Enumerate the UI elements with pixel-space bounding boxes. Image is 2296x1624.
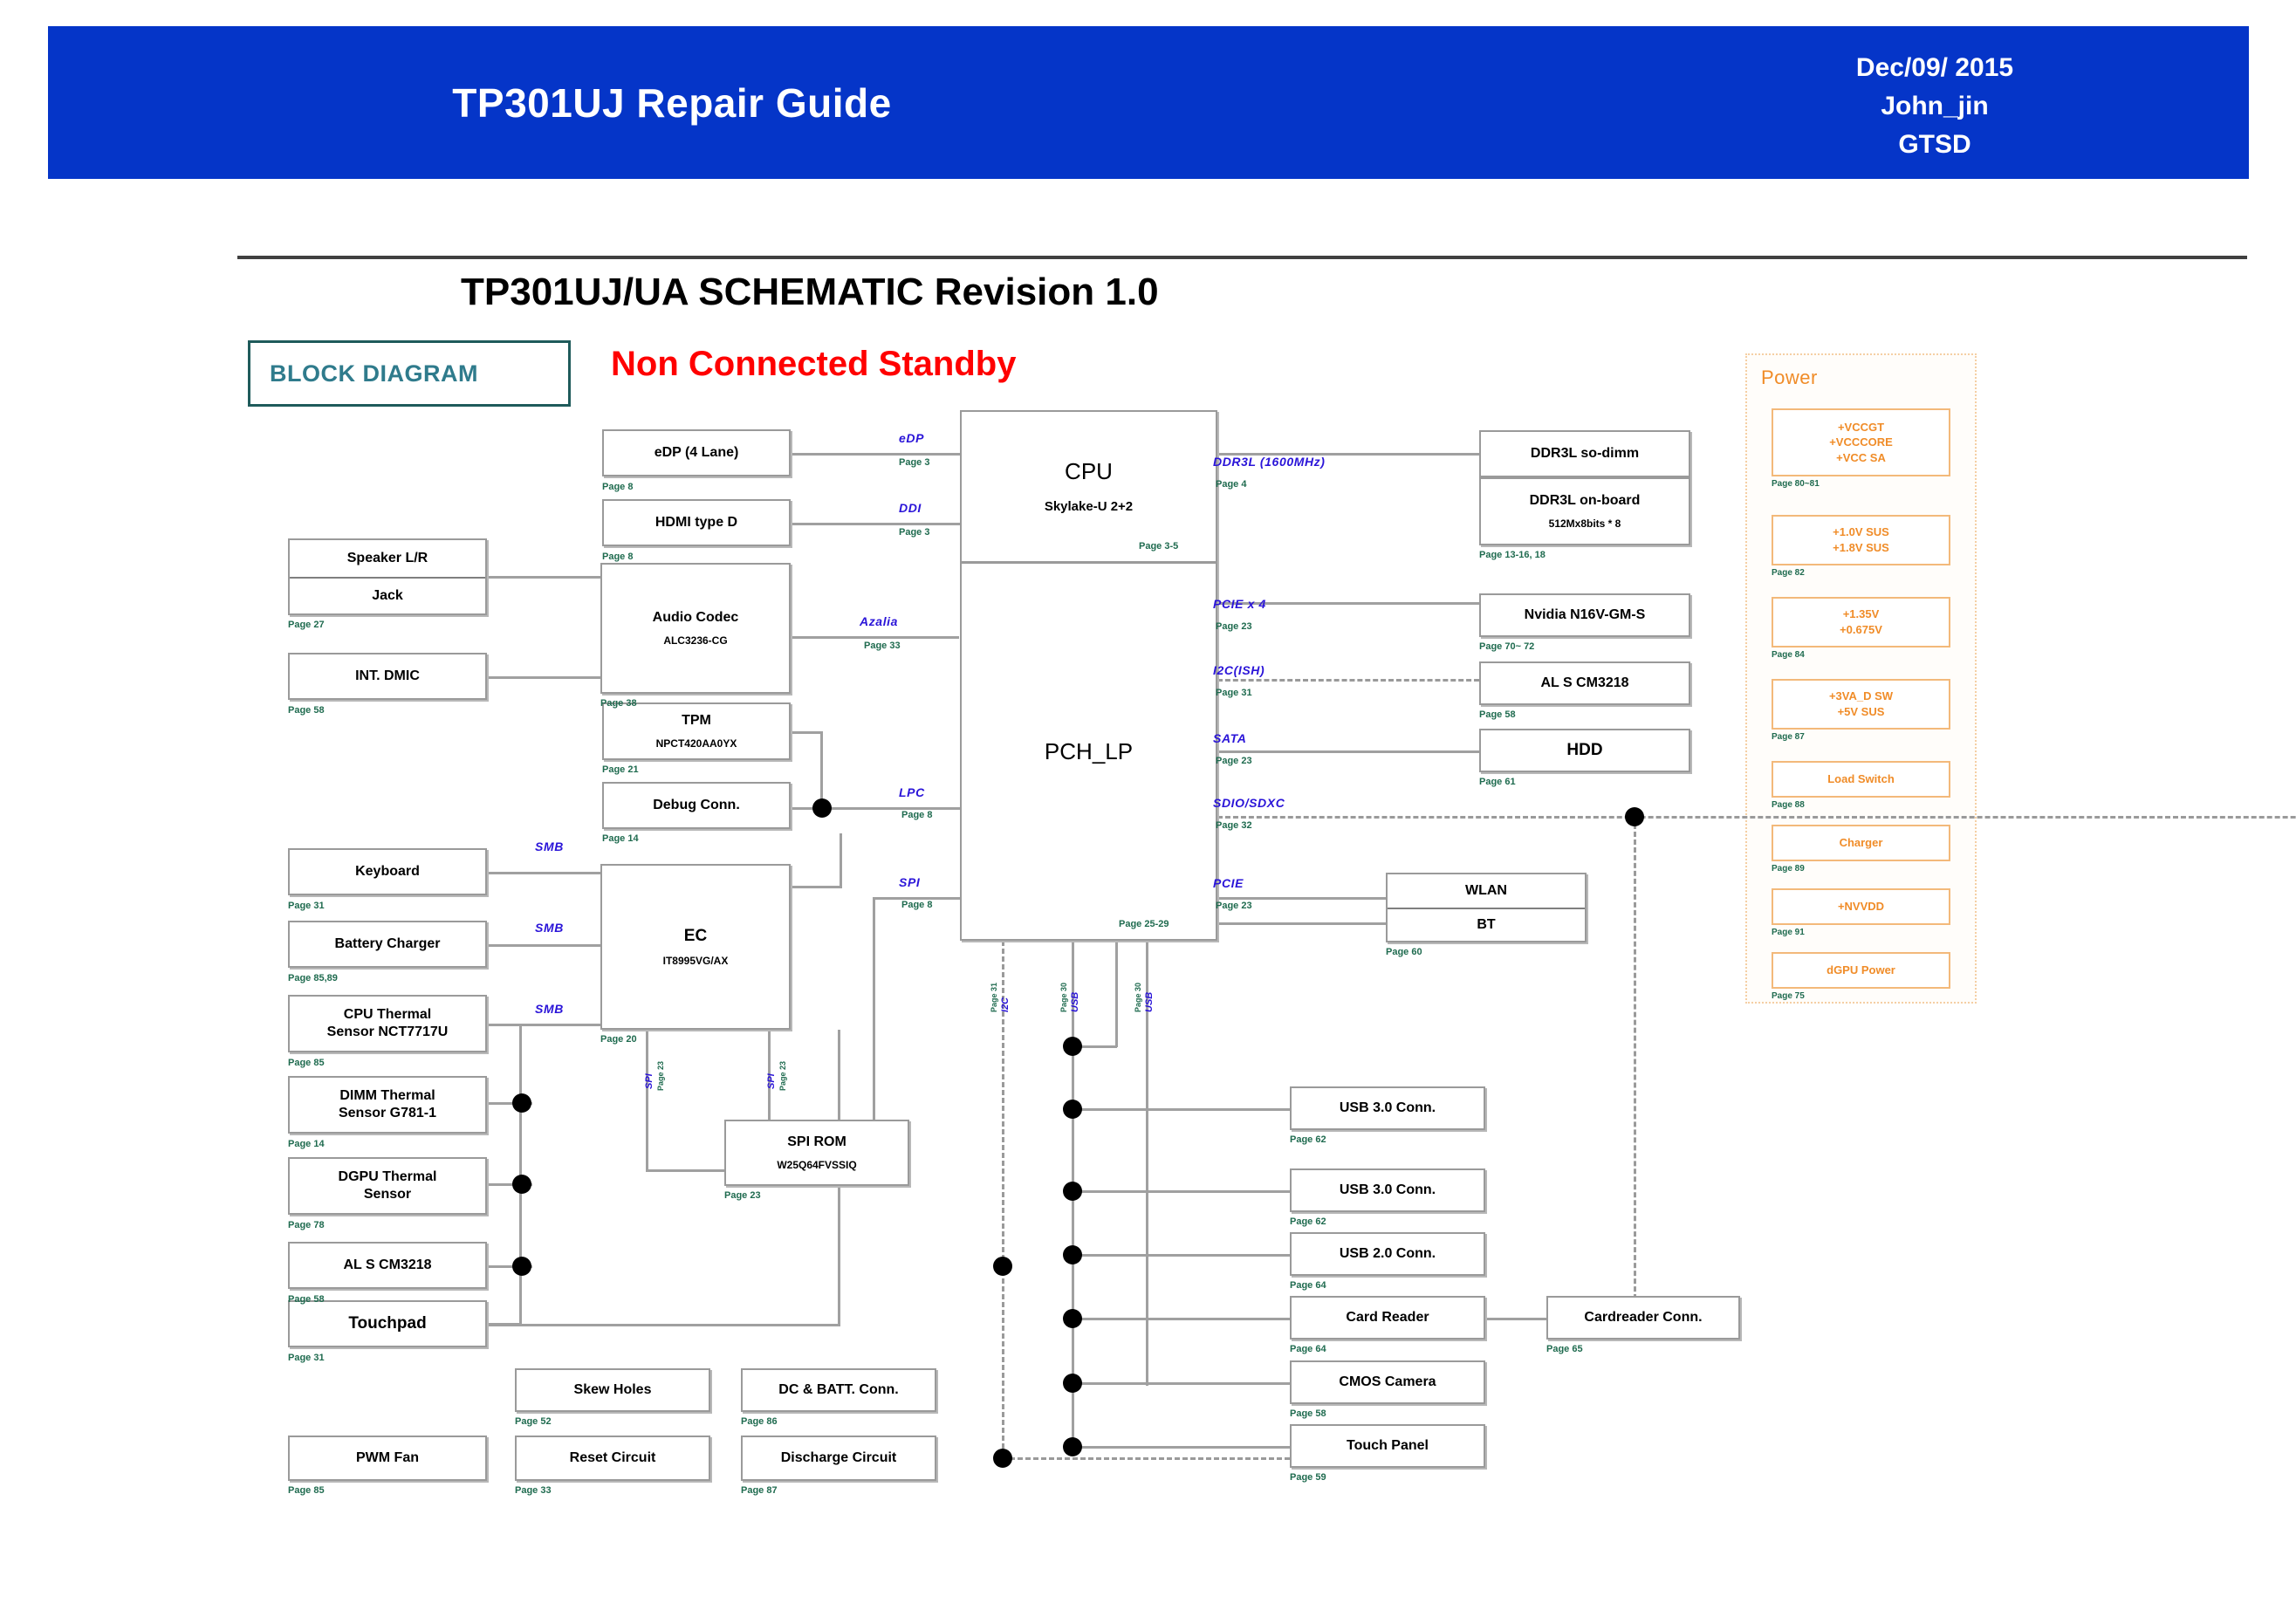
junction-dot-dgpu — [512, 1175, 531, 1194]
block-card-reader-label: Card Reader — [1346, 1309, 1429, 1326]
block-speaker-page: Page 27 — [288, 620, 325, 630]
wire-ec-spi1-h — [646, 1169, 724, 1172]
block-spi-rom[interactable]: SPI ROM W25Q64FVSSIQ — [724, 1120, 909, 1186]
block-ddr3l-sodimm-label: DDR3L so-dimm — [1531, 445, 1639, 463]
wire-sata — [1217, 750, 1479, 753]
block-dc-batt-conn-page: Page 86 — [741, 1416, 778, 1427]
block-ddr3l-onboard-part: 512Mx8bits * 8 — [1549, 517, 1621, 531]
power-item-dgpu-line1: dGPU Power — [1827, 963, 1895, 978]
power-item-3va-line1: +3VA_D SW — [1829, 689, 1893, 704]
header-date: Dec/09/ 2015 — [1791, 49, 2079, 87]
power-item-nvvdd[interactable]: +NVVDD — [1772, 888, 1950, 925]
block-diagram-tag: BLOCK DIAGRAM — [248, 340, 571, 407]
block-ddr3l-onboard[interactable]: DDR3L on-board 512Mx8bits * 8 — [1479, 477, 1690, 545]
power-item-nvvdd-line1: +NVVDD — [1838, 899, 1884, 915]
block-card-reader-page: Page 64 — [1290, 1344, 1326, 1354]
block-touchpad-page: Page 31 — [288, 1353, 325, 1363]
block-usb30-a[interactable]: USB 3.0 Conn. — [1290, 1086, 1485, 1130]
wire-cardreader — [1072, 1318, 1290, 1320]
wire-usb30a-v — [1146, 1084, 1148, 1110]
power-item-load-switch[interactable]: Load Switch — [1772, 761, 1950, 798]
signal-sata-page: Page 23 — [1216, 756, 1252, 766]
signal-sdio: SDIO/SDXC — [1213, 796, 1285, 810]
block-als-right-label: AL S CM3218 — [1540, 675, 1628, 692]
wire-cputherm-ec — [487, 1024, 600, 1026]
power-item-vcc-line2: +VCCCORE — [1829, 435, 1893, 450]
block-touchpad[interactable]: Touchpad — [288, 1300, 487, 1347]
signal-lpc-page: Page 8 — [901, 810, 932, 820]
block-discharge-circuit-label: Discharge Circuit — [781, 1449, 896, 1467]
wire-ec-up — [792, 886, 842, 888]
signal-ddr3l: DDR3L (1600MHz) — [1213, 455, 1326, 469]
power-item-sus1[interactable]: +1.0V SUS +1.8V SUS — [1772, 515, 1950, 565]
junction-dot-usb30b — [1063, 1182, 1082, 1201]
block-tpm-page: Page 21 — [602, 764, 639, 775]
slide-title: TP301UJ/UA SCHEMATIC Revision 1.0 — [461, 271, 1159, 314]
signal-i2c-ish: I2C(ISH) — [1213, 663, 1265, 677]
signal-bottom-usb2: USB — [1144, 992, 1155, 1012]
block-ec[interactable]: EC IT8995VG/AX — [600, 864, 791, 1030]
block-dc-batt-conn-label: DC & BATT. Conn. — [778, 1381, 898, 1399]
block-dimm-thermal-label2: Sensor G781-1 — [339, 1105, 436, 1122]
wire-touchpad-to-ec — [487, 1324, 840, 1326]
signal-azalia: Azalia — [860, 614, 898, 628]
block-touch-panel-label: Touch Panel — [1347, 1437, 1429, 1455]
junction-dot-touchpanel — [1063, 1437, 1082, 1456]
block-speaker-label: Speaker L/R — [290, 540, 485, 577]
power-item-135v-page: Page 84 — [1772, 650, 1805, 660]
wire-dmic-audio — [487, 676, 600, 679]
block-usb30-b[interactable]: USB 3.0 Conn. — [1290, 1168, 1485, 1212]
block-usb20-label: USB 2.0 Conn. — [1340, 1245, 1436, 1263]
header-author: John_jin — [1791, 87, 2079, 126]
junction-dot-dimm — [512, 1093, 531, 1113]
block-audio-codec[interactable]: Audio Codec ALC3236-CG — [600, 563, 791, 694]
block-cpu-thermal-page: Page 85 — [288, 1058, 325, 1068]
junction-dot-i2c-bottom — [993, 1449, 1012, 1468]
signal-ec-spi2: SPI — [766, 1073, 777, 1089]
block-pch[interactable]: PCH_LP — [960, 562, 1217, 941]
junction-dot-lpc — [812, 798, 832, 818]
block-edp[interactable]: eDP (4 Lane) — [602, 429, 791, 476]
block-ddr3l-onboard-page: Page 13-16, 18 — [1479, 550, 1546, 560]
power-item-3va-line2: +5V SUS — [1838, 704, 1885, 720]
power-panel-title: Power — [1761, 367, 1818, 389]
block-battery-charger-page: Page 85,89 — [288, 973, 338, 983]
power-item-3va[interactable]: +3VA_D SW +5V SUS — [1772, 679, 1950, 730]
block-discharge-circuit-page: Page 87 — [741, 1485, 778, 1496]
signal-bottom-usb1: USB — [1070, 992, 1080, 1012]
block-skew-holes[interactable]: Skew Holes — [515, 1368, 710, 1412]
block-cmos-camera-label: CMOS Camera — [1339, 1374, 1436, 1391]
block-hdmi[interactable]: HDMI type D — [602, 499, 791, 546]
block-edp-page: Page 8 — [602, 482, 633, 492]
block-audio-codec-label: Audio Codec — [653, 609, 739, 627]
block-nvidia[interactable]: Nvidia N16V-GM-S — [1479, 593, 1690, 637]
header-dept: GTSD — [1791, 126, 2079, 164]
wire-cmos — [1072, 1382, 1290, 1385]
block-hdd-page: Page 61 — [1479, 777, 1516, 787]
power-item-vcc-line3: +VCC SA — [1836, 450, 1886, 466]
wire-usb20 — [1072, 1254, 1290, 1257]
signal-bottom-usb1-page: Page 30 — [1059, 983, 1068, 1012]
block-edp-label: eDP (4 Lane) — [655, 444, 739, 462]
block-dimm-thermal-page: Page 14 — [288, 1139, 325, 1149]
block-battery-charger[interactable]: Battery Charger — [288, 921, 487, 968]
signal-spi: SPI — [899, 875, 920, 889]
block-discharge-circuit[interactable]: Discharge Circuit — [741, 1436, 936, 1481]
junction-dot-als — [512, 1257, 531, 1276]
block-tpm-label: TPM — [682, 712, 711, 730]
block-jack-label: Jack — [290, 577, 485, 613]
signal-edp: eDP — [899, 431, 924, 445]
block-speaker-jack[interactable]: Speaker L/R Jack — [288, 538, 487, 615]
signal-edp-page: Page 3 — [899, 457, 929, 468]
block-skew-holes-label: Skew Holes — [574, 1381, 652, 1399]
signal-smb1: SMB — [535, 921, 564, 935]
block-hdd[interactable]: HDD — [1479, 729, 1690, 772]
junction-dot-usb20 — [1063, 1245, 1082, 1264]
block-pch-label: PCH_LP — [1045, 737, 1133, 766]
block-cmos-camera[interactable]: CMOS Camera — [1290, 1360, 1485, 1404]
block-dmic-page: Page 58 — [288, 705, 325, 716]
block-ec-page: Page 20 — [600, 1034, 637, 1045]
block-reset-circuit[interactable]: Reset Circuit — [515, 1436, 710, 1481]
signal-ec-spi1: SPI — [644, 1073, 655, 1089]
block-als-left-page: Page 58 — [288, 1294, 325, 1305]
block-card-reader[interactable]: Card Reader — [1290, 1296, 1485, 1340]
block-wlan-bt[interactable]: WLAN BT — [1386, 873, 1587, 942]
block-als-left-label: AL S CM3218 — [343, 1257, 431, 1274]
signal-azalia-page: Page 33 — [864, 641, 901, 651]
power-item-charger-page: Page 89 — [1772, 864, 1805, 874]
block-dmic-label: INT. DMIC — [355, 668, 420, 685]
block-dgpu-thermal-label: DGPU Thermal — [339, 1168, 437, 1186]
block-reset-circuit-page: Page 33 — [515, 1485, 552, 1496]
signal-pcie4-page: Page 23 — [1216, 621, 1252, 632]
block-usb30-a-page: Page 62 — [1290, 1134, 1326, 1145]
block-hdmi-label: HDMI type D — [655, 514, 737, 531]
block-ddr3l-onboard-label: DDR3L on-board — [1530, 492, 1641, 510]
block-touch-panel-page: Page 59 — [1290, 1472, 1326, 1483]
junction-dot-cardreader — [1063, 1309, 1082, 1328]
signal-lpc: LPC — [899, 785, 925, 799]
power-item-135v-line1: +1.35V — [1843, 606, 1880, 622]
signal-ec-spi2-page: Page 23 — [778, 1061, 787, 1091]
block-hdd-label: HDD — [1566, 740, 1602, 761]
block-reset-circuit-label: Reset Circuit — [570, 1449, 656, 1467]
signal-spi-page: Page 8 — [901, 900, 932, 910]
block-cpu[interactable]: CPU Skylake-U 2+2 — [960, 410, 1217, 563]
block-ddr3l-sodimm[interactable]: DDR3L so-dimm — [1479, 430, 1690, 477]
signal-ddi: DDI — [899, 501, 922, 515]
wire-keyboard-ec — [487, 872, 600, 874]
block-dgpu-thermal[interactable]: DGPU Thermal Sensor — [288, 1157, 487, 1215]
signal-sata: SATA — [1213, 731, 1246, 745]
block-debug-conn-label: Debug Conn. — [653, 797, 740, 814]
block-nvidia-page: Page 70~ 72 — [1479, 641, 1534, 652]
signal-ddr3l-page: Page 4 — [1216, 479, 1246, 490]
block-cardreader-conn-page: Page 65 — [1546, 1344, 1583, 1354]
block-audio-codec-page: Page 38 — [600, 698, 637, 709]
header-title: TP301UJ Repair Guide — [48, 26, 1296, 179]
signal-smb2: SMB — [535, 1002, 564, 1016]
signal-ec-spi1-page: Page 23 — [656, 1061, 665, 1091]
wire-touchpanel — [1072, 1446, 1290, 1449]
junction-dot-i2c-mid — [993, 1257, 1012, 1276]
block-dimm-thermal-label: DIMM Thermal — [339, 1087, 435, 1105]
block-audio-codec-part: ALC3236-CG — [663, 634, 727, 648]
power-item-load-switch-line1: Load Switch — [1827, 771, 1895, 787]
block-pwm-fan-page: Page 85 — [288, 1485, 325, 1496]
block-dimm-thermal[interactable]: DIMM Thermal Sensor G781-1 — [288, 1076, 487, 1134]
block-pwm-fan-label: PWM Fan — [356, 1449, 419, 1467]
block-dmic[interactable]: INT. DMIC — [288, 653, 487, 700]
wire-tpm-vert — [820, 731, 823, 801]
block-tpm[interactable]: TPM NPCT420AA0YX — [602, 702, 791, 760]
wire-lpc-pch — [820, 807, 960, 810]
signal-bottom-i2c: I2C — [1000, 997, 1011, 1012]
wire-spi-down — [873, 897, 875, 1150]
block-debug-conn-page: Page 14 — [602, 833, 639, 844]
block-dgpu-thermal-page: Page 78 — [288, 1220, 325, 1230]
block-nvidia-label: Nvidia N16V-GM-S — [1525, 606, 1646, 624]
junction-dot-cmos — [1063, 1374, 1082, 1393]
power-item-charger[interactable]: Charger — [1772, 825, 1950, 861]
block-dc-batt-conn[interactable]: DC & BATT. Conn. — [741, 1368, 936, 1412]
power-item-vcc[interactable]: +VCCGT +VCCCORE +VCC SA — [1772, 408, 1950, 476]
block-pwm-fan[interactable]: PWM Fan — [288, 1436, 487, 1481]
power-item-vcc-line1: +VCCGT — [1838, 420, 1884, 435]
block-touchpad-label: Touchpad — [348, 1313, 426, 1334]
power-item-charger-line1: Charger — [1840, 835, 1883, 851]
signal-bottom-usb2-page: Page 30 — [1134, 983, 1142, 1012]
signal-sdio-page: Page 32 — [1216, 820, 1252, 831]
block-cpu-thermal[interactable]: CPU Thermal Sensor NCT7717U — [288, 995, 487, 1052]
title-divider — [237, 256, 2247, 259]
wire-audio-pch — [792, 636, 959, 639]
power-item-sus1-line2: +1.8V SUS — [1833, 540, 1889, 556]
block-diagram-tag-label: BLOCK DIAGRAM — [250, 360, 478, 387]
block-usb30-b-page: Page 62 — [1290, 1216, 1326, 1227]
block-cardreader-conn[interactable]: Cardreader Conn. — [1546, 1296, 1740, 1340]
block-cpu-thermal-label2: Sensor NCT7717U — [327, 1024, 449, 1041]
signal-smb3: SMB — [535, 839, 564, 853]
wire-i2c-ish — [1217, 679, 1479, 682]
block-bt-page: Page 60 — [1386, 947, 1422, 957]
block-keyboard-label: Keyboard — [355, 863, 420, 881]
wire-ec-vert — [840, 833, 842, 887]
block-pch-page: Page 25-29 — [1119, 919, 1169, 929]
wire-usb30a — [1072, 1108, 1290, 1111]
block-touch-panel[interactable]: Touch Panel — [1290, 1424, 1485, 1468]
block-usb30-b-label: USB 3.0 Conn. — [1340, 1182, 1436, 1199]
signal-i2c-ish-page: Page 31 — [1216, 688, 1252, 698]
block-keyboard[interactable]: Keyboard — [288, 848, 487, 895]
power-item-dgpu[interactable]: dGPU Power — [1772, 952, 1950, 989]
wire-usb30b-v — [1146, 1166, 1148, 1192]
wire-touchpanel-i2c — [1002, 1457, 1290, 1460]
power-item-vcc-page: Page 80~81 — [1772, 479, 1820, 489]
wire-hdmi-cpu — [790, 523, 960, 525]
block-battery-charger-label: Battery Charger — [335, 935, 441, 953]
power-item-load-switch-page: Page 88 — [1772, 800, 1805, 810]
wire-speaker-audio — [487, 576, 600, 579]
wire-sdio-vert — [1634, 816, 1636, 1331]
block-usb30-a-label: USB 3.0 Conn. — [1340, 1100, 1436, 1117]
wire-bottom-i2c — [1002, 941, 1004, 1464]
block-ec-part: IT8995VG/AX — [663, 955, 729, 968]
block-skew-holes-page: Page 52 — [515, 1416, 552, 1427]
power-item-dgpu-page: Page 75 — [1772, 991, 1805, 1001]
wire-edp-cpu — [790, 453, 960, 456]
block-cardreader-conn-label: Cardreader Conn. — [1584, 1309, 1702, 1326]
block-als-left[interactable]: AL S CM3218 — [288, 1242, 487, 1289]
block-wlan-label: WLAN — [1388, 874, 1585, 908]
block-tpm-part: NPCT420AA0YX — [656, 737, 737, 750]
block-spi-rom-part: W25Q64FVSSIQ — [777, 1159, 856, 1172]
block-cpu-thermal-label: CPU Thermal — [344, 1006, 431, 1024]
block-bt-label: BT — [1388, 908, 1585, 941]
block-hdmi-page: Page 8 — [602, 552, 633, 562]
junction-dot-usb30a — [1063, 1100, 1082, 1119]
wire-tpm-bus — [790, 731, 823, 734]
block-spi-rom-label: SPI ROM — [787, 1134, 846, 1151]
signal-bottom-i2c-page: Page 31 — [990, 983, 998, 1012]
block-cmos-camera-page: Page 58 — [1290, 1408, 1326, 1419]
junction-dot-bt — [1063, 1037, 1082, 1056]
block-spi-rom-page: Page 23 — [724, 1190, 761, 1201]
wire-pcie-wlan — [1217, 897, 1388, 900]
wire-battery-ec — [487, 944, 600, 947]
block-keyboard-page: Page 31 — [288, 901, 325, 911]
wire-bt-vert — [1115, 925, 1118, 1047]
slide-page: TP301UJ Repair Guide Dec/09/ 2015 John_j… — [0, 0, 2296, 1624]
block-cpu-page: Page 3-5 — [1139, 541, 1178, 552]
wire-usb30b — [1072, 1190, 1290, 1193]
block-cpu-label: CPU — [1065, 457, 1113, 486]
junction-dot-sdio — [1625, 807, 1644, 826]
header-banner: TP301UJ Repair Guide Dec/09/ 2015 John_j… — [48, 26, 2249, 179]
block-cpu-part: Skylake-U 2+2 — [1045, 499, 1133, 516]
power-item-3va-page: Page 87 — [1772, 732, 1805, 742]
standby-label: Non Connected Standby — [611, 345, 1016, 384]
block-dgpu-thermal-label2: Sensor — [364, 1186, 411, 1203]
power-item-nvvdd-page: Page 91 — [1772, 928, 1805, 937]
block-als-right-page: Page 58 — [1479, 709, 1516, 720]
power-item-135v-line2: +0.675V — [1840, 622, 1882, 638]
block-debug-conn[interactable]: Debug Conn. — [602, 782, 791, 829]
signal-pcie: PCIE — [1213, 876, 1244, 890]
signal-pcie4: PCIE x 4 — [1213, 597, 1266, 611]
power-item-sus1-line1: +1.0V SUS — [1833, 524, 1889, 540]
wire-sdio-sdxc — [1217, 816, 2296, 819]
block-als-right[interactable]: AL S CM3218 — [1479, 661, 1690, 705]
power-item-sus1-page: Page 82 — [1772, 568, 1805, 578]
signal-pcie-page: Page 23 — [1216, 901, 1252, 911]
block-usb20-page: Page 64 — [1290, 1280, 1326, 1291]
power-item-135v[interactable]: +1.35V +0.675V — [1772, 597, 1950, 648]
signal-ddi-page: Page 3 — [899, 527, 929, 538]
block-ec-label: EC — [684, 926, 707, 947]
header-meta: Dec/09/ 2015 John_jin GTSD — [1791, 49, 2079, 164]
block-usb20[interactable]: USB 2.0 Conn. — [1290, 1232, 1485, 1276]
wire-ec-spi1 — [646, 1030, 648, 1169]
